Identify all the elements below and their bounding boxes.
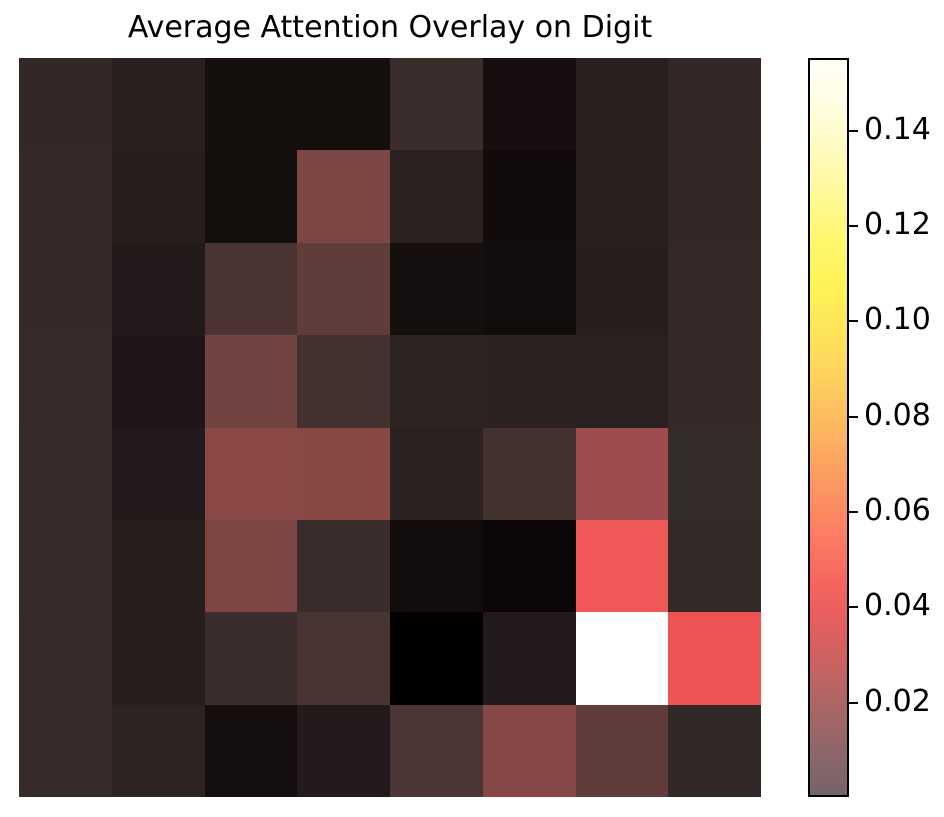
heatmap-cell: [668, 612, 761, 704]
heatmap-cell: [112, 150, 205, 242]
heatmap-cell: [483, 520, 576, 612]
heatmap-cell: [390, 150, 483, 242]
heatmap-cell: [19, 520, 112, 612]
heatmap-cell: [390, 520, 483, 612]
heatmap-cell: [112, 243, 205, 335]
colorbar-tick: [849, 320, 858, 322]
heatmap-cell: [576, 58, 669, 150]
heatmap-cell: [112, 520, 205, 612]
heatmap-cell: [390, 428, 483, 520]
heatmap-cell: [668, 58, 761, 150]
heatmap-cell: [576, 243, 669, 335]
heatmap-cell: [205, 243, 298, 335]
heatmap-cell: [19, 243, 112, 335]
heatmap-cell: [483, 335, 576, 427]
heatmap-cell: [390, 58, 483, 150]
heatmap-cell: [297, 150, 390, 242]
heatmap-cell: [483, 428, 576, 520]
heatmap-cell: [483, 243, 576, 335]
heatmap-axes: [19, 58, 761, 797]
heatmap-cell: [390, 243, 483, 335]
colorbar-tick: [849, 606, 858, 608]
heatmap-cell: [205, 612, 298, 704]
heatmap-cell: [390, 335, 483, 427]
heatmap-cell: [483, 612, 576, 704]
colorbar-tick: [849, 702, 858, 704]
heatmap-cell: [390, 705, 483, 797]
heatmap-cell: [576, 335, 669, 427]
heatmap-cell: [576, 428, 669, 520]
heatmap-cell: [205, 335, 298, 427]
heatmap-cell: [483, 705, 576, 797]
colorbar-tick: [849, 225, 858, 227]
heatmap-grid: [19, 58, 761, 797]
heatmap-cell: [205, 150, 298, 242]
heatmap-cell: [19, 612, 112, 704]
colorbar-tick: [849, 130, 858, 132]
heatmap-cell: [483, 150, 576, 242]
chart-title: Average Attention Overlay on Digit: [19, 8, 761, 48]
heatmap-cell: [668, 150, 761, 242]
heatmap-cell: [205, 520, 298, 612]
heatmap-cell: [205, 58, 298, 150]
colorbar-gradient: [808, 58, 849, 797]
heatmap-cell: [668, 705, 761, 797]
heatmap-cell: [297, 520, 390, 612]
heatmap-cell: [19, 58, 112, 150]
heatmap-cell: [576, 150, 669, 242]
heatmap-cell: [668, 243, 761, 335]
heatmap-cell: [297, 705, 390, 797]
heatmap-cell: [19, 705, 112, 797]
heatmap-cell: [668, 335, 761, 427]
heatmap-cell: [112, 428, 205, 520]
heatmap-cell: [668, 520, 761, 612]
heatmap-cell: [19, 150, 112, 242]
heatmap-cell: [576, 612, 669, 704]
heatmap-cell: [112, 335, 205, 427]
heatmap-cell: [19, 428, 112, 520]
colorbar-axes: 0.140.120.100.080.060.040.02: [808, 58, 849, 797]
heatmap-cell: [205, 705, 298, 797]
heatmap-cell: [297, 335, 390, 427]
heatmap-cell: [576, 705, 669, 797]
colorbar-tick: [849, 511, 858, 513]
heatmap-cell: [576, 520, 669, 612]
heatmap-cell: [205, 428, 298, 520]
heatmap-cell: [483, 58, 576, 150]
heatmap-cell: [297, 58, 390, 150]
heatmap-cell: [297, 243, 390, 335]
heatmap-cell: [297, 428, 390, 520]
heatmap-cell: [668, 428, 761, 520]
figure-canvas: Average Attention Overlay on Digit 0.140…: [0, 0, 944, 817]
heatmap-cell: [19, 335, 112, 427]
heatmap-cell: [112, 705, 205, 797]
colorbar-tick: [849, 416, 858, 418]
heatmap-cell: [112, 58, 205, 150]
heatmap-cell: [390, 612, 483, 704]
heatmap-cell: [297, 612, 390, 704]
heatmap-cell: [112, 612, 205, 704]
